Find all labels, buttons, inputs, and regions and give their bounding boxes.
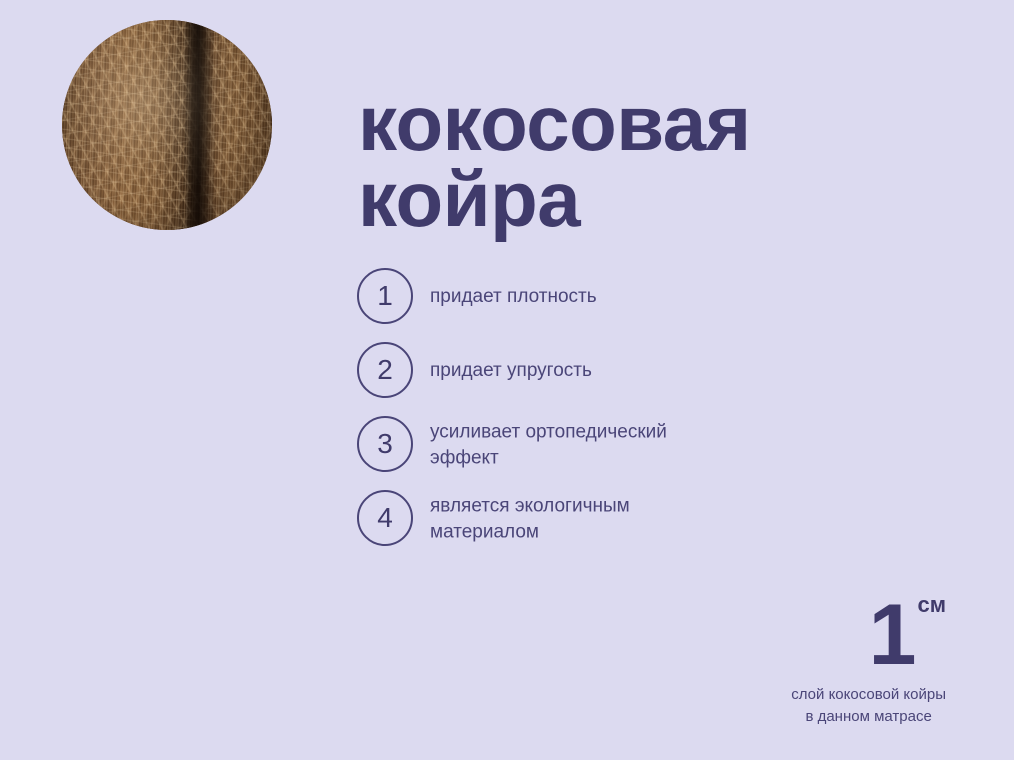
page-title-line-2: койра [358,162,918,238]
list-item-number-badge: 3 [357,416,413,472]
list-item-label: является экологичным материалом [430,493,900,544]
layer-thickness-callout: 1см слой кокосовой койры в данном матрас… [791,592,946,728]
thickness-caption: слой кокосовой койры в данном матрасе [791,684,946,728]
page-title-line-1: кокосовая [358,86,918,162]
coir-vignette-layer [62,20,272,230]
list-item-label: придает плотность [430,284,900,310]
coconut-coir-photo [62,20,272,230]
list-item-number-badge: 1 [357,268,413,324]
thickness-number: 1 [869,587,916,683]
list-item-label: придает упругость [430,358,900,384]
thickness-value-group: 1см [791,592,946,678]
list-item-number-badge: 2 [357,342,413,398]
thickness-unit: см [917,592,946,617]
list-item-number-badge: 4 [357,490,413,546]
list-item-label: усиливает ортопедический эффект [430,419,900,470]
page-title: кокосовая койра [358,86,918,237]
slide-canvas: кокосовая койра 1 придает плотность 2 пр… [0,0,1014,760]
